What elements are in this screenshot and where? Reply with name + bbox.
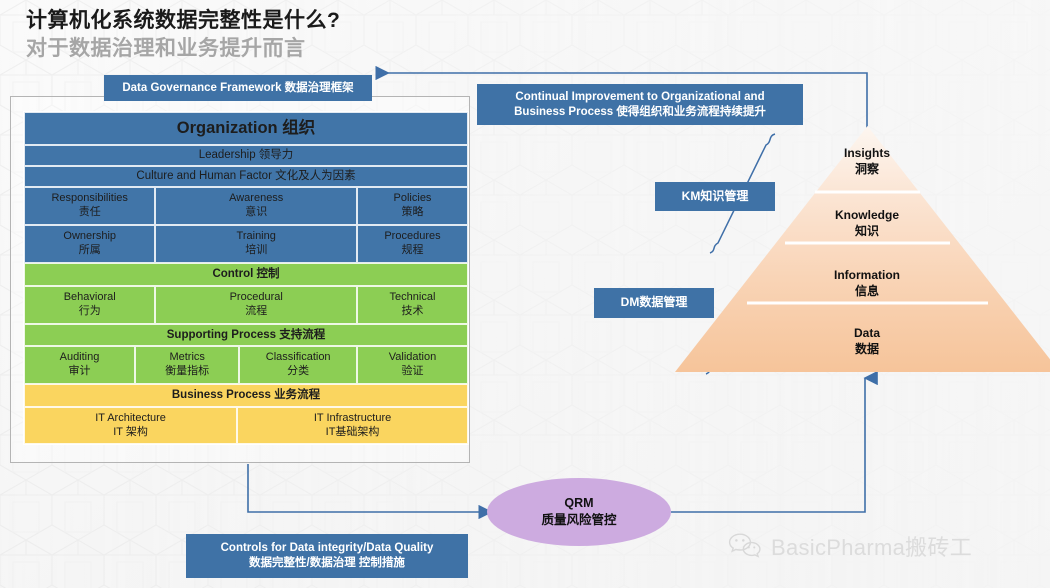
cell-validation: Validation 验证 (357, 346, 468, 384)
data-governance-table: Organization 组织 Leadership 领导力 Culture a… (23, 111, 469, 445)
section-header-control: Control 控制 (24, 263, 468, 286)
cell-metrics: Metrics 衡量指标 (135, 346, 239, 384)
pyramid-level-information: Information 信息 (777, 268, 957, 299)
table-row: Behavioral 行为 Procedural 流程 Technical 技术 (24, 286, 468, 324)
continual-improvement-line1: Continual Improvement to Organizational … (515, 90, 764, 105)
page-subtitle: 对于数据治理和业务提升而言 (26, 36, 340, 62)
table-row: Organization 组织 (24, 112, 468, 145)
continual-improvement-box: Continual Improvement to Organizational … (477, 84, 803, 125)
dikw-pyramid: Insights 洞察 Knowledge 知识 Information 信息 … (675, 126, 1050, 372)
cell-auditing: Auditing 审计 (24, 346, 135, 384)
cell-responsibilities: Responsibilities 责任 (24, 187, 155, 225)
section-header-supporting-process: Supporting Process 支持流程 (24, 324, 468, 346)
table-row: Business Process 业务流程 (24, 384, 468, 407)
slide-canvas: 计算机化系统数据完整性是什么? 对于数据治理和业务提升而言 Data Gover (0, 0, 1050, 588)
controls-line2: 数据完整性/数据治理 控制措施 (249, 556, 405, 571)
continual-improvement-line2: Business Process 使得组织和业务流程持续提升 (514, 105, 766, 120)
section-header-business-process: Business Process 业务流程 (24, 384, 468, 407)
watermark-text: BasicPharma搬砖工 (771, 530, 972, 562)
pyramid-level-knowledge: Knowledge 知识 (777, 208, 957, 239)
controls-line1: Controls for Data integrity/Data Quality (221, 541, 434, 556)
cell-procedural: Procedural 流程 (155, 286, 357, 324)
cell-culture-human-factor: Culture and Human Factor 文化及人为因素 (24, 166, 468, 187)
cell-technical: Technical 技术 (357, 286, 468, 324)
title-block: 计算机化系统数据完整性是什么? 对于数据治理和业务提升而言 (26, 8, 340, 63)
table-row: Culture and Human Factor 文化及人为因素 (24, 166, 468, 187)
controls-for-data-integrity-box: Controls for Data integrity/Data Quality… (186, 534, 468, 578)
cell-classification: Classification 分类 (239, 346, 357, 384)
qrm-label-cn: 质量风险管控 (541, 512, 616, 530)
cell-policies: Policies 策略 (357, 187, 468, 225)
table-row: Auditing 审计 Metrics 衡量指标 Classification … (24, 346, 468, 384)
table-row: Control 控制 (24, 263, 468, 286)
table-row: Supporting Process 支持流程 (24, 324, 468, 346)
cell-it-architecture: IT Architecture IT 架构 (24, 407, 237, 444)
cell-ownership: Ownership 所属 (24, 225, 155, 263)
page-title: 计算机化系统数据完整性是什么? (26, 8, 340, 34)
cell-behavioral: Behavioral 行为 (24, 286, 155, 324)
table-row: Ownership 所属 Training 培训 Procedures 规程 (24, 225, 468, 263)
pyramid-level-insights: Insights 洞察 (777, 146, 957, 177)
section-header-organization: Organization 组织 (24, 112, 468, 145)
wechat-icon (728, 532, 762, 560)
table-row: Responsibilities 责任 Awareness 意识 Policie… (24, 187, 468, 225)
qrm-oval: QRM 质量风险管控 (487, 478, 671, 546)
data-governance-framework-label: Data Governance Framework 数据治理框架 (104, 75, 372, 101)
table-row: Leadership 领导力 (24, 145, 468, 166)
watermark: BasicPharma搬砖工 (728, 530, 972, 562)
pyramid-level-data: Data 数据 (777, 326, 957, 357)
cell-it-infrastructure: IT Infrastructure IT基础架构 (237, 407, 468, 444)
table-row: IT Architecture IT 架构 IT Infrastructure … (24, 407, 468, 444)
cell-awareness: Awareness 意识 (155, 187, 357, 225)
cell-training: Training 培训 (155, 225, 357, 263)
qrm-label-en: QRM (564, 495, 593, 513)
cell-procedures: Procedures 规程 (357, 225, 468, 263)
cell-leadership: Leadership 领导力 (24, 145, 468, 166)
